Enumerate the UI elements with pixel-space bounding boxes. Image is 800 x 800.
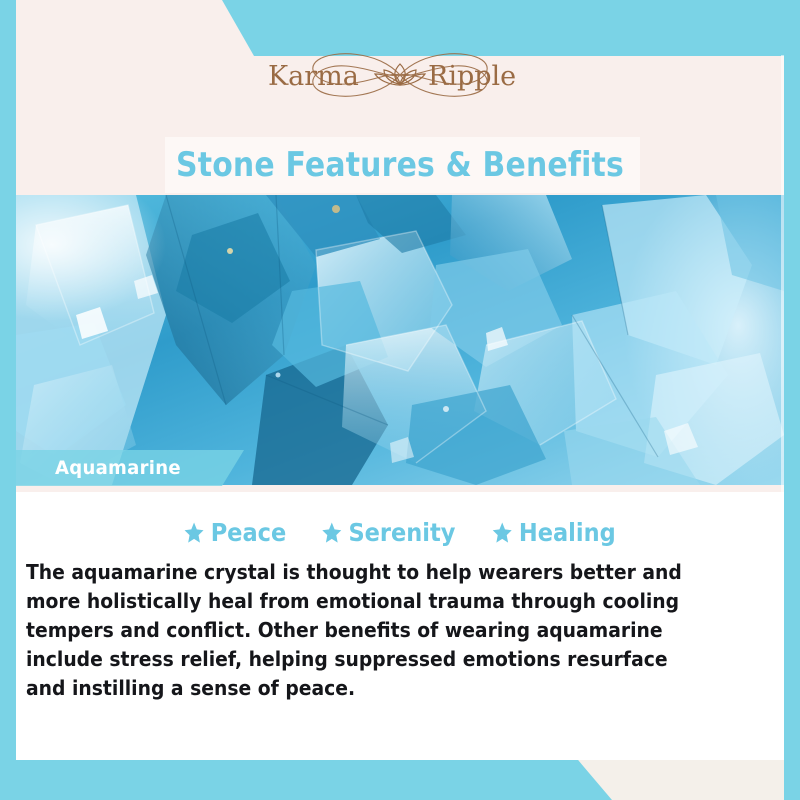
left-hairline-divider	[16, 680, 19, 760]
brand-logo: Karma Ripple	[0, 44, 800, 106]
cyan-left-border	[0, 0, 16, 800]
cyan-right-border	[784, 0, 800, 800]
keyword-item: Peace	[183, 518, 286, 547]
keyword-item: Healing	[491, 518, 615, 547]
brand-name-right: Ripple	[428, 61, 516, 92]
keyword-list: Peace Serenity Healing	[0, 512, 800, 552]
right-hairline-divider	[781, 55, 784, 755]
keyword-item: Serenity	[321, 518, 455, 547]
star-icon	[183, 521, 204, 544]
keyword-label: Peace	[210, 518, 286, 547]
star-icon	[491, 521, 512, 544]
star-icon	[321, 521, 342, 544]
page-title: Stone Features & Benefits	[48, 137, 752, 193]
stone-description: The aquamarine crystal is thought to hel…	[26, 558, 710, 703]
aquamarine-crystal-photo	[16, 195, 784, 485]
stone-name-label: Aquamarine	[55, 450, 181, 486]
stone-benefits-infographic: Karma Ripple Stone Features & Benefits A…	[0, 0, 800, 800]
keyword-label: Healing	[518, 518, 615, 547]
brand-name-left: Karma	[268, 61, 359, 92]
keyword-label: Serenity	[348, 518, 455, 547]
